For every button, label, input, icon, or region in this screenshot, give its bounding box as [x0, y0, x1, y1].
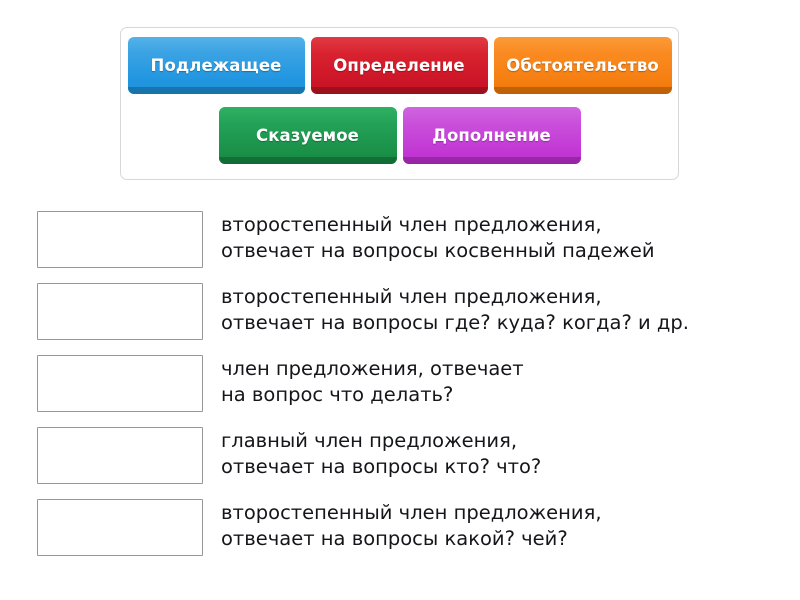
drop-box-4[interactable] — [37, 427, 203, 484]
tile-podlezhashchee[interactable]: Подлежащее — [128, 37, 305, 94]
answer-row: член предложения, отвечает на вопрос что… — [0, 355, 800, 412]
answer-text-4: главный член предложения, отвечает на во… — [221, 427, 541, 480]
tile-dopolnenie[interactable]: Дополнение — [403, 107, 581, 164]
answer-row: второстепенный член предложения, отвечае… — [0, 499, 800, 556]
answer-text-3: член предложения, отвечает на вопрос что… — [221, 355, 524, 408]
answer-row-list: второстепенный член предложения, отвечае… — [0, 211, 800, 571]
answer-text-5: второстепенный член предложения, отвечае… — [221, 499, 602, 552]
tile-skazuemoe[interactable]: Сказуемое — [219, 107, 397, 164]
answer-row: второстепенный член предложения, отвечае… — [0, 283, 800, 340]
drop-box-1[interactable] — [37, 211, 203, 268]
answer-row: второстепенный член предложения, отвечае… — [0, 211, 800, 268]
tile-row-top: Подлежащее Определение Обстоятельство — [121, 37, 678, 94]
drop-box-2[interactable] — [37, 283, 203, 340]
answer-text-2: второстепенный член предложения, отвечае… — [221, 283, 689, 336]
answer-row: главный член предложения, отвечает на во… — [0, 427, 800, 484]
drop-box-3[interactable] — [37, 355, 203, 412]
tile-opredelenie[interactable]: Определение — [311, 37, 488, 94]
tile-obstoyatelstvo[interactable]: Обстоятельство — [494, 37, 672, 94]
tile-row-bottom: Сказуемое Дополнение — [121, 107, 678, 164]
drop-box-5[interactable] — [37, 499, 203, 556]
tile-tray: Подлежащее Определение Обстоятельство Ск… — [120, 27, 679, 180]
answer-text-1: второстепенный член предложения, отвечае… — [221, 211, 655, 264]
